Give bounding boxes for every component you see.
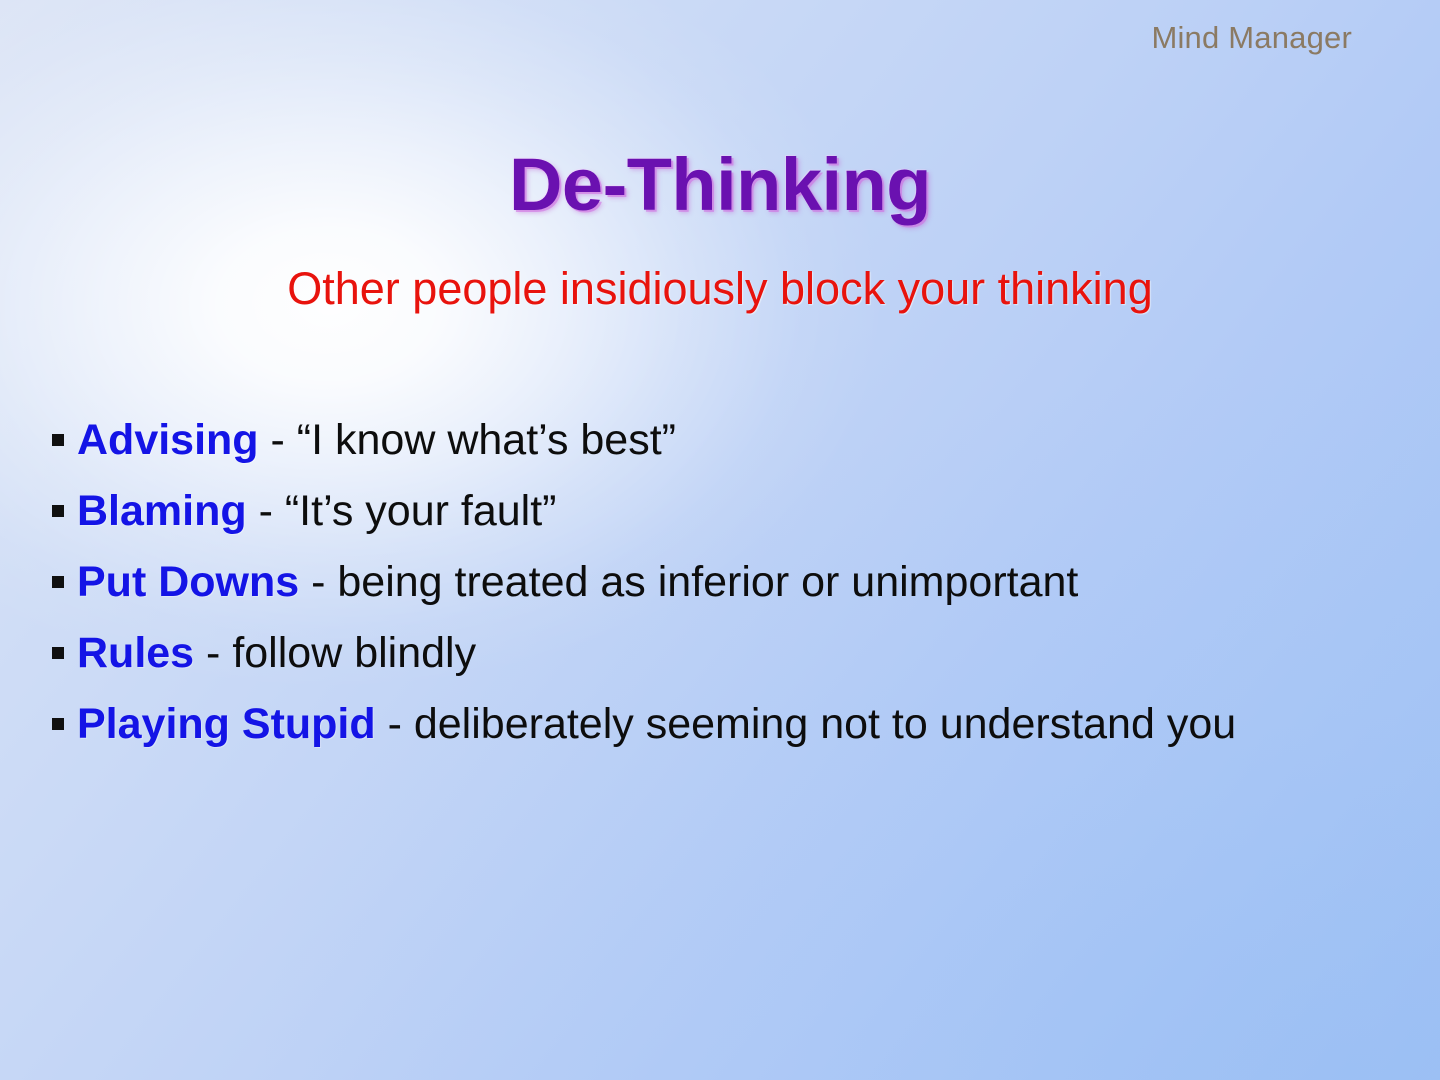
- list-item-description: - “I know what’s best”: [259, 416, 676, 464]
- list-item-description: - follow blindly: [194, 629, 476, 677]
- header-brand-label: Mind Manager: [1151, 20, 1352, 56]
- list-item-text: Rules - follow blindly: [77, 625, 476, 681]
- square-bullet-icon: [52, 647, 64, 659]
- list-item-term: Put Downs: [77, 558, 299, 606]
- list-item: Put Downs - being treated as inferior or…: [52, 554, 1422, 625]
- list-item-text: Put Downs - being treated as inferior or…: [77, 554, 1078, 610]
- presentation-slide: Mind Manager De-Thinking Other people in…: [0, 0, 1440, 1080]
- bullet-list: Advising - “I know what’s best” Blaming …: [52, 412, 1422, 767]
- list-item-description: - deliberately seeming not to understand…: [376, 700, 1237, 748]
- list-item: Advising - “I know what’s best”: [52, 412, 1422, 483]
- list-item-term: Playing Stupid: [77, 700, 376, 748]
- list-item-term: Advising: [77, 416, 259, 464]
- square-bullet-icon: [52, 434, 64, 446]
- list-item-description: - being treated as inferior or unimporta…: [299, 558, 1078, 606]
- list-item-text: Blaming - “It’s your fault”: [77, 483, 556, 539]
- list-item: Rules - follow blindly: [52, 625, 1422, 696]
- list-item-text: Advising - “I know what’s best”: [77, 412, 676, 468]
- square-bullet-icon: [52, 505, 64, 517]
- square-bullet-icon: [52, 718, 64, 730]
- slide-subtitle: Other people insidiously block your thin…: [0, 263, 1440, 315]
- list-item-term: Blaming: [77, 487, 247, 535]
- list-item: Playing Stupid - deliberately seeming no…: [52, 696, 1422, 767]
- page-title: De-Thinking: [0, 142, 1440, 227]
- square-bullet-icon: [52, 576, 64, 588]
- list-item-text: Playing Stupid - deliberately seeming no…: [77, 696, 1236, 752]
- list-item: Blaming - “It’s your fault”: [52, 483, 1422, 554]
- list-item-term: Rules: [77, 629, 194, 677]
- list-item-description: - “It’s your fault”: [247, 487, 557, 535]
